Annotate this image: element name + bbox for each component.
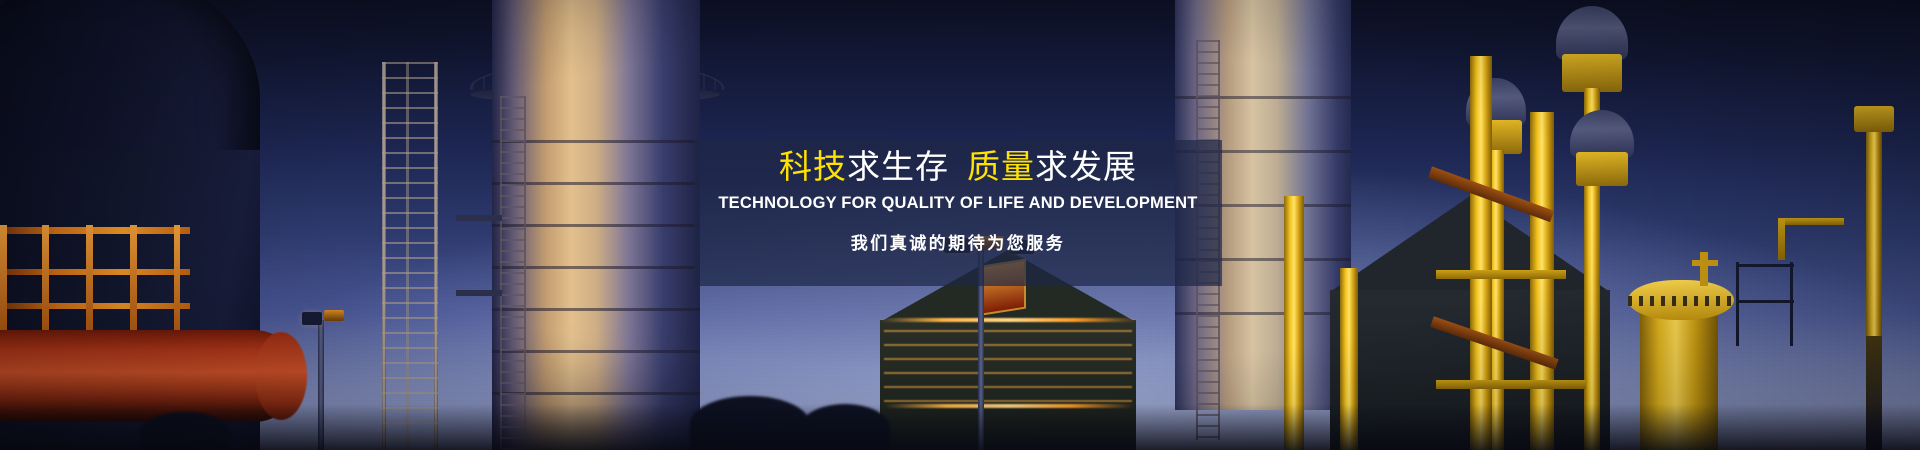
headline-plain-1: 求生存 [847,148,949,185]
left-lit-platform [0,225,200,340]
right-cantilever-post [1778,218,1785,260]
vessel-nozzle-cross [1692,260,1718,266]
headline-plain-2: 求发展 [1035,148,1137,185]
headline-accent-2: 质量 [967,148,1035,185]
light-pole-lamp-b [324,310,344,321]
tower-strut [456,290,502,296]
far-right-pole-head [1854,106,1894,132]
light-pole-lamp-a [302,312,322,325]
tower-ladder [500,96,526,450]
vessel-nozzle [1700,252,1708,286]
horizontal-beam-a [1436,270,1566,279]
hero-banner: 科技求生存质量求发展 TECHNOLOGY FOR QUALITY OF LIF… [0,0,1920,450]
plant-building-louvers [884,330,1132,404]
building-edge-glow [878,318,1140,322]
vent-collar-c [1576,152,1628,186]
tower-strut [456,215,502,221]
lattice-tower [382,62,440,450]
ground-shadow [0,404,1920,450]
slogan-overlay-panel: 科技求生存质量求发展 TECHNOLOGY FOR QUALITY OF LIF… [694,140,1222,286]
right-cantilever-beam [1778,218,1844,225]
yellow-column-2 [1530,112,1554,450]
right-railing-rail [1736,300,1794,303]
far-right-pole [1866,126,1882,338]
subline-english: TECHNOLOGY FOR QUALITY OF LIFE AND DEVEL… [694,188,1222,213]
yellow-column-1 [1470,56,1492,450]
vessel-flange-bolts [1628,296,1734,306]
headline-accent-1: 科技 [779,148,847,185]
tagline-chinese: 我们真诚的期待为您服务 [694,213,1222,255]
headline: 科技求生存质量求发展 [694,140,1222,188]
horizontal-beam-b [1436,380,1586,389]
right-railing-rail [1736,264,1794,267]
right-railing-post [1736,262,1739,346]
right-railing-post [1790,262,1793,346]
vent-collar-b [1562,54,1622,92]
